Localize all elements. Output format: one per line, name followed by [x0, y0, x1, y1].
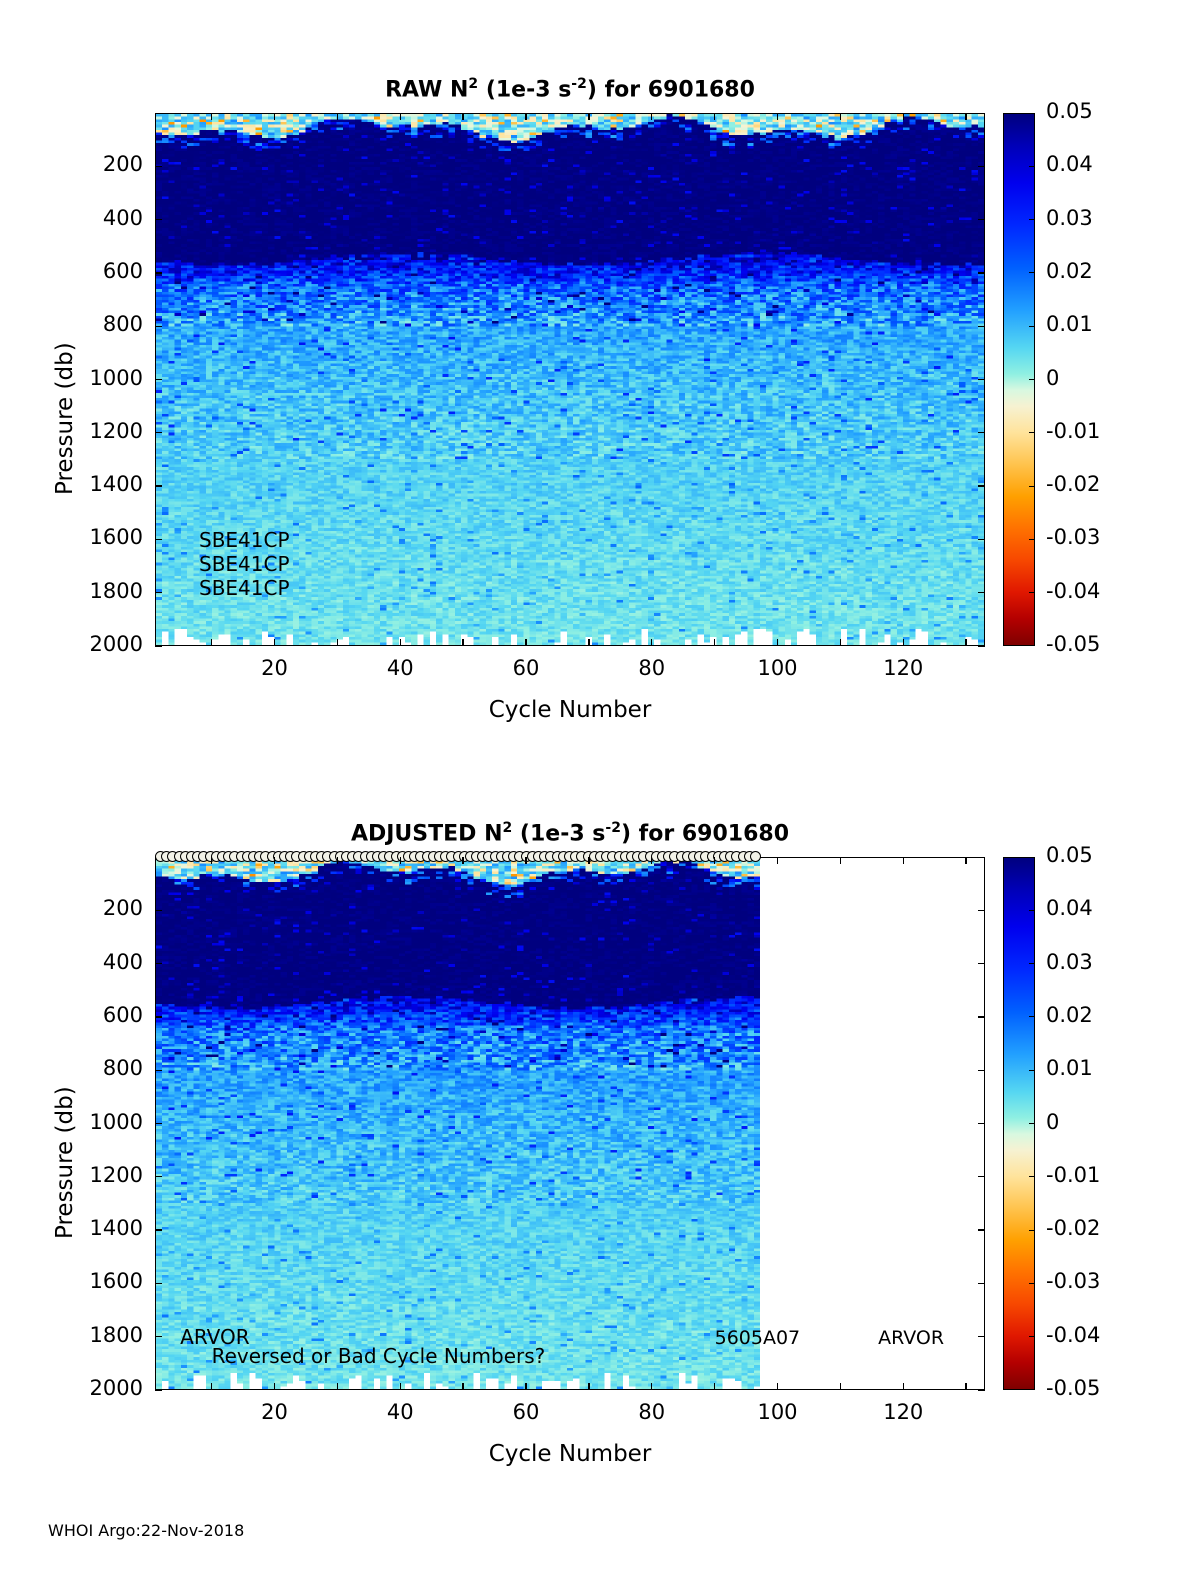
y-tick-label: 1600	[43, 1269, 143, 1293]
x-tick-mark	[337, 639, 338, 646]
y-tick-label: 600	[43, 259, 143, 283]
colorbar-tick-mark	[1029, 486, 1035, 487]
raw-x-axis-label: Cycle Number	[155, 697, 985, 723]
y-tick-label: 2000	[43, 632, 143, 656]
x-tick-mark	[588, 113, 589, 120]
colorbar-tick-mark	[1029, 219, 1035, 220]
x-tick-mark	[903, 639, 904, 646]
y-tick-mark	[978, 539, 985, 540]
y-tick-mark	[155, 1123, 162, 1124]
panel-raw-title-prefix: RAW N	[385, 77, 468, 102]
colorbar-tick-label: -0.01	[1046, 1163, 1100, 1187]
y-tick-mark	[155, 645, 162, 646]
adjusted-x-axis-label: Cycle Number	[155, 1441, 985, 1467]
x-tick-mark	[777, 639, 778, 646]
x-tick-mark	[211, 639, 212, 646]
y-tick-mark	[978, 272, 985, 273]
y-tick-mark	[978, 379, 985, 380]
plot-annotation: Reversed or Bad Cycle Numbers?	[212, 1344, 546, 1368]
colorbar-tick-mark	[1029, 326, 1035, 327]
y-tick-mark	[978, 219, 985, 220]
x-tick-mark	[965, 639, 966, 646]
colorbar-tick-mark	[1029, 910, 1035, 911]
x-tick-label: 40	[360, 1400, 440, 1424]
y-tick-label: 1000	[43, 366, 143, 390]
x-tick-mark	[274, 1383, 275, 1390]
plot-annotation: SBE41CP	[199, 576, 290, 600]
y-tick-mark	[155, 432, 162, 433]
colorbar-tick-label: -0.03	[1046, 1269, 1100, 1293]
x-tick-mark	[777, 857, 778, 864]
x-tick-mark	[525, 113, 526, 120]
y-tick-mark	[978, 1229, 985, 1230]
x-tick-mark	[651, 1383, 652, 1390]
x-tick-mark	[462, 113, 463, 120]
adjusted-heatmap	[156, 858, 760, 1389]
y-tick-label: 1200	[43, 419, 143, 443]
colorbar-tick-label: -0.05	[1046, 632, 1100, 656]
y-tick-mark	[155, 539, 162, 540]
colorbar-tick-label: 0.04	[1046, 152, 1093, 176]
colorbar-tick-label: 0	[1046, 1110, 1059, 1134]
adjusted-cycle-markers[interactable]	[155, 851, 761, 865]
plot-annotation: SBE41CP	[199, 552, 290, 576]
colorbar-tick-label: -0.04	[1046, 579, 1100, 603]
x-tick-label: 120	[863, 656, 943, 680]
y-tick-label: 1000	[43, 1110, 143, 1134]
x-tick-mark	[777, 1383, 778, 1390]
y-tick-label: 1400	[43, 1216, 143, 1240]
y-tick-mark	[978, 1176, 985, 1177]
colorbar-tick-mark	[1029, 592, 1035, 593]
panel-raw-title-mid: (1e-3 s	[478, 77, 571, 102]
y-tick-mark	[978, 1016, 985, 1017]
colorbar-tick-label: -0.04	[1046, 1323, 1100, 1347]
x-tick-mark	[588, 639, 589, 646]
x-tick-label: 80	[612, 1400, 692, 1424]
y-tick-label: 1400	[43, 472, 143, 496]
y-tick-mark	[978, 910, 985, 911]
colorbar-tick-label: -0.02	[1046, 472, 1100, 496]
colorbar-tick-mark	[1029, 379, 1035, 380]
y-tick-label: 2000	[43, 1376, 143, 1400]
y-tick-mark	[155, 272, 162, 273]
x-tick-mark	[965, 857, 966, 864]
y-tick-mark	[155, 1016, 162, 1017]
x-tick-mark	[274, 113, 275, 120]
x-tick-mark	[337, 1383, 338, 1390]
x-tick-mark	[525, 1383, 526, 1390]
panel-adjusted-title: ADJUSTED N2 (1e-3 s-2) for 6901680	[155, 820, 985, 846]
y-tick-mark	[978, 1389, 985, 1390]
y-tick-label: 1800	[43, 579, 143, 603]
x-tick-mark	[777, 113, 778, 120]
y-tick-label: 200	[43, 896, 143, 920]
colorbar-tick-label: 0.05	[1046, 99, 1093, 123]
x-tick-mark	[462, 639, 463, 646]
colorbar-tick-mark	[1029, 1070, 1035, 1071]
x-tick-mark	[274, 639, 275, 646]
x-tick-label: 60	[486, 1400, 566, 1424]
y-tick-mark	[978, 963, 985, 964]
x-tick-mark	[588, 1383, 589, 1390]
x-tick-mark	[965, 1383, 966, 1390]
y-tick-label: 400	[43, 206, 143, 230]
x-tick-label: 20	[234, 1400, 314, 1424]
y-tick-mark	[155, 963, 162, 964]
colorbar-tick-label: -0.02	[1046, 1216, 1100, 1240]
colorbar-tick-label: 0.02	[1046, 259, 1093, 283]
y-tick-mark	[978, 1123, 985, 1124]
y-tick-label: 1200	[43, 1163, 143, 1187]
panel-adjusted-title-mid: (1e-3 s	[512, 821, 605, 846]
y-tick-mark	[978, 1070, 985, 1071]
colorbar-tick-mark	[1029, 432, 1035, 433]
y-tick-mark	[155, 1283, 162, 1284]
x-tick-label: 40	[360, 656, 440, 680]
x-tick-label: 100	[738, 656, 818, 680]
colorbar-tick-label: 0.03	[1046, 950, 1093, 974]
x-tick-mark	[651, 857, 652, 864]
y-tick-mark	[978, 166, 985, 167]
colorbar-tick-mark	[1029, 1336, 1035, 1337]
y-tick-label: 800	[43, 312, 143, 336]
x-tick-mark	[211, 857, 212, 864]
x-tick-mark	[840, 857, 841, 864]
x-tick-mark	[651, 639, 652, 646]
plot-annotation: 5605A07	[715, 1327, 801, 1349]
colorbar-tick-mark	[1029, 963, 1035, 964]
x-tick-mark	[714, 1383, 715, 1390]
plot-annotation: ARVOR	[878, 1327, 944, 1349]
y-tick-mark	[155, 379, 162, 380]
x-tick-mark	[211, 113, 212, 120]
panel-raw-title: RAW N2 (1e-3 s-2) for 6901680	[155, 76, 985, 102]
y-tick-mark	[155, 1389, 162, 1390]
x-tick-label: 60	[486, 656, 566, 680]
x-tick-label: 80	[612, 656, 692, 680]
y-tick-mark	[155, 166, 162, 167]
panel-raw-title-sup2: -2	[571, 76, 587, 92]
colorbar-tick-label: 0	[1046, 366, 1059, 390]
x-tick-mark	[714, 113, 715, 120]
x-tick-mark	[525, 639, 526, 646]
x-tick-mark	[903, 113, 904, 120]
x-tick-mark	[462, 857, 463, 864]
x-tick-mark	[274, 857, 275, 864]
colorbar-tick-mark	[1029, 539, 1035, 540]
x-tick-mark	[400, 639, 401, 646]
y-tick-label: 400	[43, 950, 143, 974]
panel-adjusted-title-prefix: ADJUSTED N	[351, 821, 503, 846]
x-tick-mark	[211, 1383, 212, 1390]
y-tick-mark	[978, 326, 985, 327]
y-tick-mark	[155, 910, 162, 911]
x-tick-mark	[337, 857, 338, 864]
y-tick-mark	[155, 485, 162, 486]
colorbar-tick-label: 0.01	[1046, 312, 1093, 336]
y-tick-mark	[978, 1336, 985, 1337]
colorbar-tick-label: 0.03	[1046, 206, 1093, 230]
x-tick-mark	[337, 113, 338, 120]
colorbar-tick-mark	[1029, 1016, 1035, 1017]
y-tick-mark	[155, 326, 162, 327]
colorbar-tick-mark	[1029, 1230, 1035, 1231]
x-tick-mark	[400, 857, 401, 864]
adjusted-plot-area[interactable]	[155, 857, 985, 1390]
plot-annotation: SBE41CP	[199, 528, 290, 552]
colorbar-tick-label: -0.01	[1046, 419, 1100, 443]
x-tick-mark	[965, 113, 966, 120]
panel-adjusted-title-sup: 2	[503, 820, 513, 836]
colorbar-tick-label: 0.04	[1046, 896, 1093, 920]
x-tick-mark	[903, 1383, 904, 1390]
y-tick-mark	[155, 592, 162, 593]
y-tick-mark	[155, 1176, 162, 1177]
y-tick-label: 200	[43, 152, 143, 176]
cycle-marker-icon[interactable]	[750, 851, 761, 862]
colorbar-tick-mark	[1029, 166, 1035, 167]
colorbar-tick-label: -0.05	[1046, 1376, 1100, 1400]
x-tick-mark	[840, 1383, 841, 1390]
y-tick-label: 800	[43, 1056, 143, 1080]
colorbar-tick-label: 0.05	[1046, 843, 1093, 867]
y-tick-label: 600	[43, 1003, 143, 1027]
x-tick-mark	[462, 1383, 463, 1390]
y-tick-mark	[155, 1336, 162, 1337]
colorbar-tick-mark	[1029, 1176, 1035, 1177]
y-tick-mark	[155, 1070, 162, 1071]
x-tick-mark	[840, 639, 841, 646]
x-tick-mark	[400, 1383, 401, 1390]
panel-adjusted-title-sup2: -2	[605, 820, 621, 836]
x-tick-mark	[714, 639, 715, 646]
colorbar-tick-mark	[1029, 1283, 1035, 1284]
x-tick-mark	[525, 857, 526, 864]
x-tick-label: 100	[738, 1400, 818, 1424]
panel-adjusted-title-suffix: ) for 6901680	[621, 821, 789, 846]
y-tick-label: 1800	[43, 1323, 143, 1347]
footer-credit: WHOI Argo:22-Nov-2018	[48, 1521, 244, 1540]
y-tick-mark	[978, 645, 985, 646]
x-tick-mark	[903, 857, 904, 864]
colorbar-tick-mark	[1029, 272, 1035, 273]
x-tick-mark	[588, 857, 589, 864]
colorbar-tick-label: 0.01	[1046, 1056, 1093, 1080]
x-tick-label: 120	[863, 1400, 943, 1424]
y-tick-mark	[155, 219, 162, 220]
x-tick-mark	[840, 113, 841, 120]
x-tick-mark	[714, 857, 715, 864]
x-tick-mark	[400, 113, 401, 120]
colorbar-tick-mark	[1029, 1123, 1035, 1124]
colorbar-tick-label: -0.03	[1046, 525, 1100, 549]
panel-raw-title-sup: 2	[468, 76, 478, 92]
y-tick-mark	[978, 432, 985, 433]
y-tick-mark	[978, 592, 985, 593]
x-tick-mark	[651, 113, 652, 120]
y-tick-mark	[978, 485, 985, 486]
y-tick-mark	[978, 1283, 985, 1284]
y-tick-label: 1600	[43, 525, 143, 549]
y-tick-mark	[155, 1229, 162, 1230]
x-tick-label: 20	[234, 656, 314, 680]
colorbar-tick-label: 0.02	[1046, 1003, 1093, 1027]
panel-raw-title-suffix: ) for 6901680	[587, 77, 755, 102]
